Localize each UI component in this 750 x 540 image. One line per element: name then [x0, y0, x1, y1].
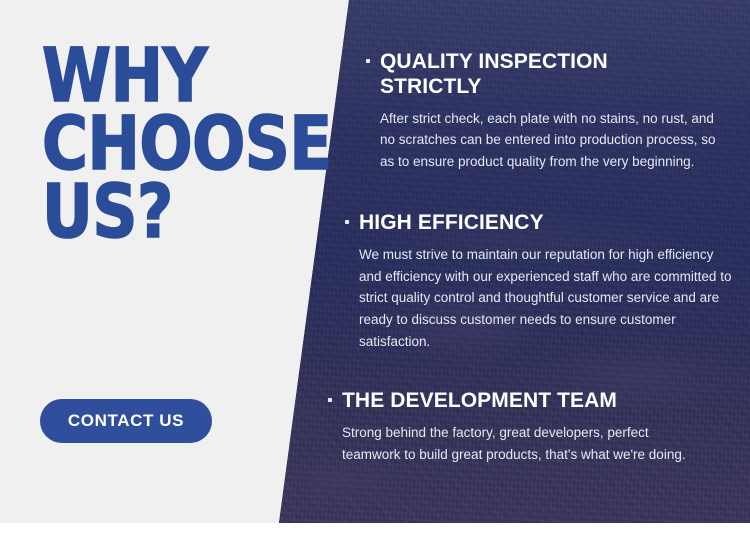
feature-item-high-efficiency: HIGH EFFICIENCY We must strive to mainta… — [345, 211, 730, 353]
feature-item-development-team: THE DEVELOPMENT TEAM Strong behind the f… — [328, 389, 728, 465]
feature-body: We must strive to maintain our reputatio… — [359, 244, 737, 353]
feature-body: Strong behind the factory, great develop… — [342, 422, 702, 466]
dot-bullet-icon — [328, 398, 332, 402]
feature-title: HIGH EFFICIENCY — [359, 211, 730, 236]
feature-title: QUALITY INSPECTION STRICTLY — [380, 50, 650, 100]
dot-bullet-icon — [345, 220, 349, 224]
features-list: QUALITY INSPECTION STRICTLY After strict… — [0, 0, 750, 540]
contact-us-button[interactable]: CONTACT US — [40, 399, 212, 443]
why-choose-us-banner: WHY CHOOSE US? CONTACT US QUALITY INSPEC… — [0, 0, 750, 540]
feature-body: After strict check, each plate with no s… — [380, 108, 732, 174]
dot-bullet-icon — [366, 59, 370, 63]
feature-item-quality-inspection: QUALITY INSPECTION STRICTLY After strict… — [366, 50, 726, 173]
feature-title: THE DEVELOPMENT TEAM — [342, 389, 728, 414]
